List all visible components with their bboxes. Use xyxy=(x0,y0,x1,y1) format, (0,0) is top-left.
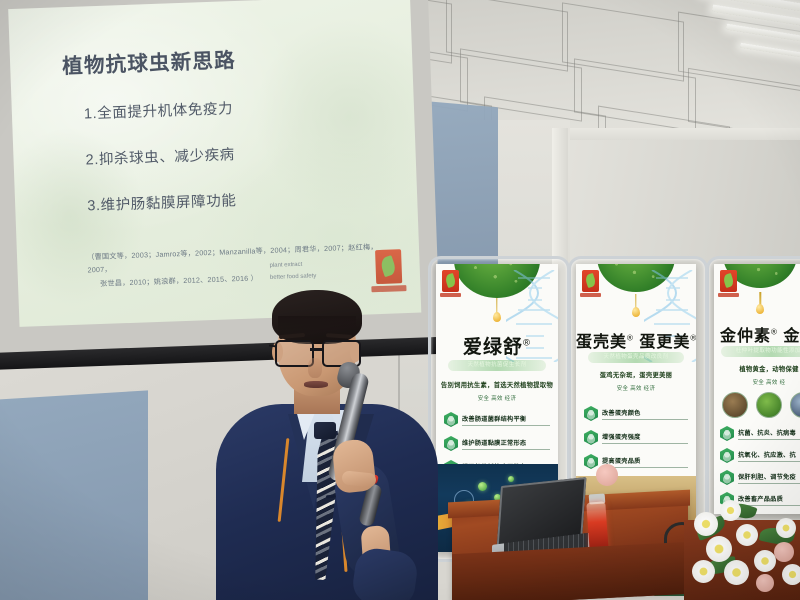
banner-3-subbar: 杜仲叶提取物功能性添加剂 xyxy=(721,346,800,357)
chrysanthemum xyxy=(724,560,749,585)
chrysanthemum xyxy=(736,524,758,546)
hexagon-badge-icon xyxy=(584,406,598,421)
chrysanthemum xyxy=(694,512,718,536)
banner-2-feature-2-label: 增强蛋壳强度 xyxy=(602,432,688,444)
banner-1-badges: 安全 高效 经济 xyxy=(436,394,558,402)
tie-knot xyxy=(314,422,336,439)
flower-bouquet xyxy=(690,498,800,600)
hexagon-badge-icon xyxy=(720,470,734,485)
red-bottle xyxy=(586,501,608,552)
ingredient-photo-powder xyxy=(722,392,748,418)
banner-3-product-name-2: 金仲 xyxy=(783,328,800,345)
banner-2-reg-mark: ® xyxy=(627,334,634,343)
banner-3-feature-2: 抗氧化、抗应激、抗 xyxy=(720,448,800,463)
banner-3-product-title: 金仲素® 金仲 xyxy=(714,322,800,346)
banner-2-flower-graphic xyxy=(596,464,618,486)
company-logo-icon xyxy=(442,270,459,292)
banner-1-feature-2-label: 维护肠道黏膜正常形态 xyxy=(462,438,550,450)
banner-2-tagline: 蛋鸡无杂斑，蛋壳更美丽 xyxy=(576,370,696,379)
banner-2-product-title: 蛋壳美® 蛋更美® xyxy=(576,328,696,352)
banner-2-feature-2: 增强蛋壳强度 xyxy=(584,430,688,445)
slide-bullet-list: 1.全面提升机体免疫力 2.抑杀球虫、减少疾病 3.维护肠黏膜屏障功能 xyxy=(84,92,389,241)
nose xyxy=(308,358,322,378)
slide-bullet-1: 1.全面提升机体免疫力 xyxy=(84,92,385,124)
shirt-collar-left xyxy=(296,410,316,440)
company-logo-icon xyxy=(720,270,737,292)
banner-1-feature-2: 维护肠道黏膜正常形态 xyxy=(444,436,550,451)
pink-rose xyxy=(774,542,794,562)
banner-3-feature-1: 抗菌、抗炎、抗病毒 xyxy=(720,426,800,441)
chrysanthemum xyxy=(720,500,741,521)
chrysanthemum xyxy=(754,550,776,572)
banner-3-feature-3-label: 保肝利胆、调节免疫 xyxy=(738,472,800,484)
banner-2-product-name-2: 蛋更美 xyxy=(639,334,690,351)
banner-jinzhongsu[interactable]: 金仲素® 金仲 杜仲叶提取物功能性添加剂 植物黄金，动物保健 安全 高效 经 抗… xyxy=(714,264,800,514)
slide-corner-text: plant extract better food safety xyxy=(269,258,362,284)
slide-bullet-3: 3.维护肠黏膜屏障功能 xyxy=(87,184,388,216)
golden-droplet-icon xyxy=(632,307,640,317)
banner-1-feature-1: 改善肠道菌群结构平衡 xyxy=(444,412,550,427)
ingredient-photo-extract xyxy=(790,392,800,418)
banner-3-tagline: 植物黄金，动物保健 xyxy=(714,364,800,373)
chrysanthemum xyxy=(776,518,796,538)
ingredient-photo-leaf xyxy=(756,392,782,418)
mouth xyxy=(304,381,328,388)
golden-droplet-icon xyxy=(493,312,501,322)
molecule-dot xyxy=(478,482,487,491)
slide-surface: 植物抗球虫新思路 1.全面提升机体免疫力 2.抑杀球虫、减少疾病 3.维护肠黏膜… xyxy=(8,0,421,327)
molecule-dot xyxy=(508,476,514,482)
banner-3-feature-1-label: 抗菌、抗炎、抗病毒 xyxy=(738,428,800,440)
glasses-temple xyxy=(269,344,277,347)
banner-1-product-title: 爱绿舒® xyxy=(436,332,558,359)
banner-2-badges: 安全 高效 经济 xyxy=(576,384,696,392)
banner-3-feature-3: 保肝利胆、调节免疫 xyxy=(720,470,800,485)
glasses-bridge xyxy=(310,348,324,351)
hexagon-badge-icon xyxy=(720,448,734,463)
hexagon-badge-icon xyxy=(584,430,598,445)
company-logo-wordmark xyxy=(718,293,739,297)
slide-bullet-2: 2.抑杀球虫、减少疾病 xyxy=(85,138,386,170)
banner-3-badges: 安全 高效 经 xyxy=(714,378,800,386)
golden-droplet-icon xyxy=(756,304,764,314)
chrysanthemum xyxy=(782,564,800,585)
banner-1-subbar: 天然植物抗菌促生长剂 xyxy=(448,360,546,371)
hexagon-badge-icon xyxy=(444,436,458,451)
wall-panel-blue-left xyxy=(0,390,148,600)
banner-2-feature-1-label: 改善蛋壳颜色 xyxy=(602,408,688,420)
hexagon-badge-icon xyxy=(720,426,734,441)
pink-rose xyxy=(756,574,774,592)
banner-2-reg-mark-2: ® xyxy=(690,334,696,343)
slide-company-logo-icon xyxy=(375,249,402,284)
banner-3-feature-2-label: 抗氧化、抗应激、抗 xyxy=(738,450,800,462)
slide-corner-text-line-2: better food safety xyxy=(270,269,362,284)
banner-3-product-name: 金仲素 xyxy=(720,328,771,345)
banner-2-feature-1: 改善蛋壳颜色 xyxy=(584,406,688,421)
company-logo-icon xyxy=(582,270,599,292)
banner-3-reg-mark: ® xyxy=(771,328,778,337)
chrysanthemum xyxy=(692,560,715,583)
speaker xyxy=(222,288,432,600)
hexagon-badge-icon xyxy=(444,412,458,427)
company-logo-wordmark xyxy=(440,293,461,297)
banner-1-product-name: 爱绿舒 xyxy=(463,337,523,358)
presentation-photo: 植物抗球虫新思路 1.全面提升机体免疫力 2.抑杀球虫、减少疾病 3.维护肠黏膜… xyxy=(0,0,800,600)
banner-1-reg-mark: ® xyxy=(523,338,531,349)
company-logo-wordmark xyxy=(580,293,601,297)
banner-2-feature-3-label: 提高蛋壳品质 xyxy=(602,456,688,468)
banner-2-product-name: 蛋壳美 xyxy=(576,334,627,351)
chrysanthemum xyxy=(706,536,732,562)
banner-dankemei[interactable]: 蛋壳美® 蛋更美® 天然植物蛋壳品质改良剂 蛋鸡无杂斑，蛋壳更美丽 安全 高效 … xyxy=(576,264,696,520)
banner-1-tagline: 告别饲用抗生素，首选天然植物提取物 xyxy=(436,380,558,389)
slide-title: 植物抗球虫新思路 xyxy=(62,43,237,79)
hexagon-badge-icon xyxy=(584,454,598,469)
banner-1-feature-1-label: 改善肠道菌群结构平衡 xyxy=(462,414,550,426)
banner-2-subbar: 天然植物蛋壳品质改良剂 xyxy=(588,352,684,363)
